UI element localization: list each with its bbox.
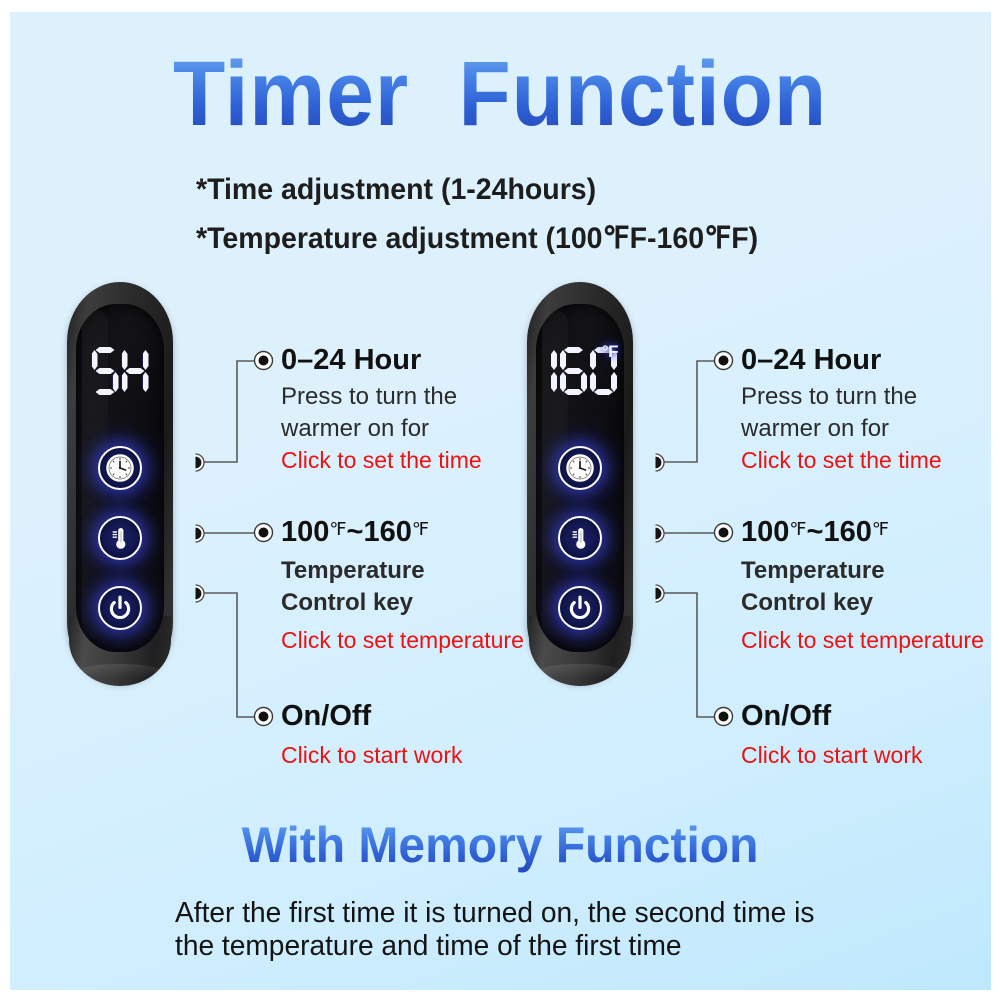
timer-button[interactable] xyxy=(558,446,602,490)
callout-note: Click to set temperature xyxy=(741,626,984,655)
callout-body-line2: warmer on for xyxy=(741,413,942,444)
leader-marker-timer-right xyxy=(646,453,665,472)
leader-marker-temperature-left xyxy=(186,524,205,543)
callout-bullet-timer-right xyxy=(713,350,734,371)
temperature-button[interactable] xyxy=(558,516,602,560)
callout-note: Click to start work xyxy=(281,741,462,770)
callout-body-line1: Press to turn the xyxy=(281,381,482,412)
header-bullet-time: *Time adjustment (1-24hours) xyxy=(196,173,596,207)
led-letter-h xyxy=(122,347,149,395)
callout-bullet-power-right xyxy=(713,706,734,727)
temp-high-degree: ℉ xyxy=(872,519,889,539)
callout-title: 100℉~160℉ xyxy=(281,517,524,547)
callout-body-line2: warmer on for xyxy=(281,413,482,444)
callout-timer-right: 0–24 Hour Press to turn the warmer on fo… xyxy=(741,345,942,475)
callout-timer-left: 0–24 Hour Press to turn the warmer on fo… xyxy=(281,345,482,475)
power-icon xyxy=(105,593,135,623)
callout-power-right: On/Off Click to start work xyxy=(741,701,922,770)
power-button[interactable] xyxy=(98,586,142,630)
led-digit-5 xyxy=(92,347,119,395)
timer-device xyxy=(65,282,175,682)
power-icon xyxy=(565,593,595,623)
led-unit-label: °F xyxy=(602,342,618,362)
thermometer-icon xyxy=(105,523,135,553)
temp-low-degree: ℉ xyxy=(329,519,346,539)
temp-separator: ~ xyxy=(347,516,364,548)
callout-body-line2: Control key xyxy=(741,587,984,618)
callout-note: Click to set the time xyxy=(281,446,482,475)
power-button[interactable] xyxy=(558,586,602,630)
callout-body-line1: Press to turn the xyxy=(741,381,942,412)
callout-title: On/Off xyxy=(741,701,922,731)
led-readout: °F xyxy=(536,340,624,402)
temp-high-degree: ℉ xyxy=(412,519,429,539)
callout-title: 0–24 Hour xyxy=(741,345,942,375)
led-digits xyxy=(76,340,164,402)
clock-icon xyxy=(105,453,135,483)
temp-low-value: 100 xyxy=(281,516,329,548)
callout-bullet-temperature-left xyxy=(253,522,274,543)
footer-title: With Memory Function xyxy=(20,816,980,874)
callout-power-left: On/Off Click to start work xyxy=(281,701,462,770)
leader-marker-power-left xyxy=(186,584,205,603)
leader-marker-power-right xyxy=(646,584,665,603)
callout-bullet-timer-left xyxy=(253,350,274,371)
callout-title: 100℉~160℉ xyxy=(741,517,984,547)
product-infographic: Timer Function *Time adjustment (1-24hou… xyxy=(0,0,1000,1000)
callout-body-line2: Control key xyxy=(281,587,524,618)
callout-title: On/Off xyxy=(281,701,462,731)
device-screen: °F xyxy=(536,304,624,652)
leader-marker-temperature-right xyxy=(646,524,665,543)
callout-bullet-temperature-right xyxy=(713,522,734,543)
header-bullet-temperature: *Temperature adjustment (100℉F-160℉F) xyxy=(196,221,758,256)
callout-temperature-left: 100℉~160℉ Temperature Control key Click … xyxy=(281,517,524,655)
temp-low-degree: ℉ xyxy=(789,519,806,539)
callout-temperature-right: 100℉~160℉ Temperature Control key Click … xyxy=(741,517,984,655)
callout-note: Click to start work xyxy=(741,741,922,770)
callout-title: 0–24 Hour xyxy=(281,345,482,375)
temp-high-value: 160 xyxy=(823,516,871,548)
temp-separator: ~ xyxy=(807,516,824,548)
clock-icon xyxy=(565,453,595,483)
device-screen xyxy=(76,304,164,652)
thermometer-icon xyxy=(565,523,595,553)
callout-body-line1: Temperature xyxy=(281,555,524,586)
led-digit-6 xyxy=(560,347,587,395)
temp-high-value: 160 xyxy=(363,516,411,548)
footer-line-2: the temperature and time of the first ti… xyxy=(175,930,682,963)
led-readout xyxy=(76,340,164,402)
page-title: Timer Function xyxy=(35,48,965,140)
led-digit-1 xyxy=(543,347,557,395)
footer-line-1: After the first time it is turned on, th… xyxy=(175,897,814,930)
callout-bullet-power-left xyxy=(253,706,274,727)
temperature-button[interactable] xyxy=(98,516,142,560)
leader-marker-timer-left xyxy=(186,453,205,472)
timer-button[interactable] xyxy=(98,446,142,490)
callout-body-line1: Temperature xyxy=(741,555,984,586)
callout-note: Click to set temperature xyxy=(281,626,524,655)
temperature-device: °F xyxy=(525,282,635,682)
temp-low-value: 100 xyxy=(741,516,789,548)
callout-note: Click to set the time xyxy=(741,446,942,475)
